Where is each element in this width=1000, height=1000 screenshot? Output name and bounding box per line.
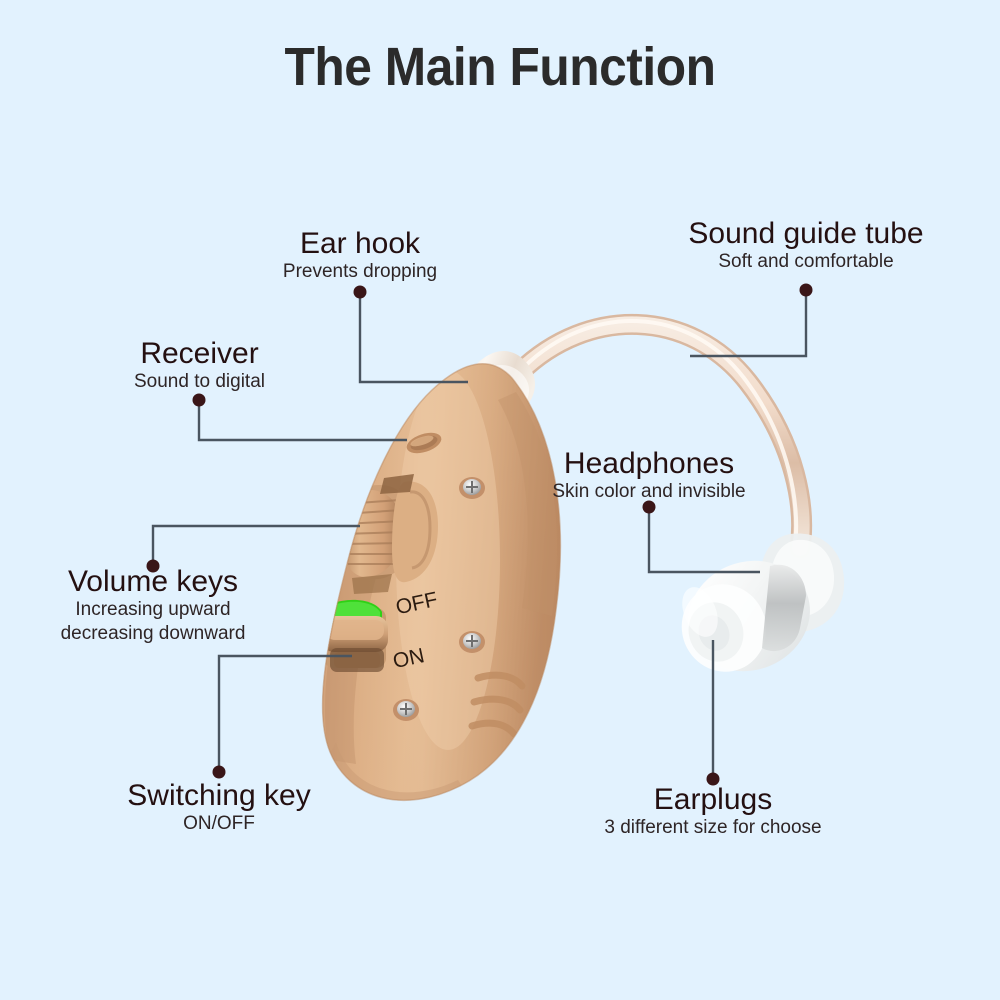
callout-switching-key: Switching key ON/OFF <box>94 780 344 836</box>
callout-headphones-subtitle: Skin color and invisible <box>524 480 774 503</box>
product-illustration: OFF ON <box>0 0 1000 1000</box>
screw-bottom-art <box>393 699 419 721</box>
screw-lower-art <box>459 631 485 653</box>
callout-ear-hook-title: Ear hook <box>235 228 485 260</box>
callout-receiver-title: Receiver <box>77 338 322 370</box>
switching-key-art <box>322 600 388 672</box>
hearing-aid-body-art <box>322 364 560 808</box>
callout-sound-guide-tube-subtitle: Soft and comfortable <box>656 250 956 273</box>
callout-volume-keys-subtitle: Increasing upward <box>28 598 278 621</box>
callout-earplugs-title: Earplugs <box>568 784 858 816</box>
callout-volume-keys-title: Volume keys <box>28 566 278 598</box>
callout-earplugs-subtitle: 3 different size for choose <box>568 816 858 839</box>
callout-headphones: Headphones Skin color and invisible <box>524 448 774 504</box>
screw-upper-art <box>459 477 485 499</box>
callout-headphones-title: Headphones <box>524 448 774 480</box>
callout-volume-keys-subtitle2: decreasing downward <box>28 622 278 645</box>
callout-sound-guide-tube-title: Sound guide tube <box>656 218 956 250</box>
callout-ear-hook-subtitle: Prevents dropping <box>235 260 485 283</box>
sound-guide-tube-art <box>520 321 802 548</box>
callout-earplugs: Earplugs 3 different size for choose <box>568 784 858 840</box>
callout-volume-keys: Volume keys Increasing upward decreasing… <box>28 566 278 645</box>
callout-receiver: Receiver Sound to digital <box>77 338 322 394</box>
infographic-canvas: OFF ON The <box>0 0 1000 1000</box>
callout-sound-guide-tube: Sound guide tube Soft and comfortable <box>656 218 956 274</box>
callout-receiver-subtitle: Sound to digital <box>77 370 322 393</box>
callout-switching-key-subtitle: ON/OFF <box>94 812 344 835</box>
callout-ear-hook: Ear hook Prevents dropping <box>235 228 485 284</box>
callout-switching-key-title: Switching key <box>94 780 344 812</box>
page-title: The Main Function <box>40 36 960 98</box>
